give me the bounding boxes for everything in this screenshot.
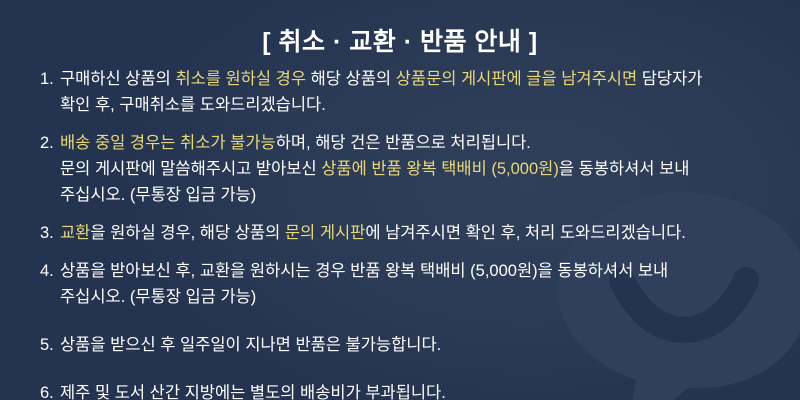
notice-item-3: 3.교환을 원하실 경우, 해당 상품의 문의 게시판에 남겨주시면 확인 후,…	[40, 220, 782, 246]
highlighted-text: 교환	[60, 224, 90, 242]
highlighted-text: 문의 게시판	[285, 224, 365, 242]
notice-item-body: 교환을 원하실 경우, 해당 상품의 문의 게시판에 남겨주시면 확인 후, 처…	[60, 220, 782, 246]
notice-item-body: 구매하신 상품의 취소를 원하실 경우 해당 상품의 상품문의 게시판에 글을 …	[60, 66, 782, 118]
plain-text: 해당 상품의	[306, 70, 396, 88]
notice-item-marker: 1.	[40, 66, 60, 92]
highlighted-text: 취소를 원하실 경우	[175, 70, 306, 88]
notice-item-line: 문의 게시판에 말씀해주시고 받아보신 상품에 반품 왕복 택배비 (5,000…	[60, 156, 782, 182]
notice-item-1: 1.구매하신 상품의 취소를 원하실 경우 해당 상품의 상품문의 게시판에 글…	[40, 66, 782, 118]
highlighted-text: 상품에 반품 왕복 택배비 (5,000원)	[321, 160, 559, 178]
notice-item-6: 6.제주 및 도서 산간 지방에는 별도의 배송비가 부과됩니다.	[40, 380, 782, 400]
plain-text: 담당자가	[637, 70, 702, 88]
notice-item-marker: 3.	[40, 220, 60, 246]
highlighted-text: 상품문의 게시판에 글을 남겨주시면	[396, 70, 637, 88]
plain-text: 확인 후, 구매취소를 도와드리겠습니다.	[60, 96, 326, 114]
notice-item-4: 4.상품을 받아보신 후, 교환을 원하시는 경우 반품 왕복 택배비 (5,0…	[40, 258, 782, 310]
plain-text: 상품을 받으신 후 일주일이 지나면 반품은 불가능합니다.	[60, 336, 441, 354]
notice-item-line: 구매하신 상품의 취소를 원하실 경우 해당 상품의 상품문의 게시판에 글을 …	[60, 66, 782, 92]
plain-text: 주십시오. (무통장 입금 가능)	[60, 186, 256, 204]
page-title: [ 취소 · 교환 · 반품 안내 ]	[0, 22, 800, 58]
plain-text: 을 원하실 경우, 해당 상품의	[90, 224, 285, 242]
notice-item-line: 주십시오. (무통장 입금 가능)	[60, 182, 782, 208]
notice-item-marker: 4.	[40, 258, 60, 284]
notice-item-body: 제주 및 도서 산간 지방에는 별도의 배송비가 부과됩니다.	[60, 380, 782, 400]
plain-text: 을 동봉하셔서 보내	[559, 160, 690, 178]
notice-item-marker: 6.	[40, 380, 60, 400]
notice-item-body: 상품을 받으신 후 일주일이 지나면 반품은 불가능합니다.	[60, 332, 782, 358]
plain-text: 주십시오. (무통장 입금 가능)	[60, 288, 256, 306]
notice-item-2: 2.배송 중일 경우는 취소가 불가능하며, 해당 건은 반품으로 처리됩니다.…	[40, 130, 782, 208]
plain-text: 상품을 받아보신 후, 교환을 원하시는 경우 반품 왕복 택배비 (5,000…	[60, 262, 668, 280]
notice-item-body: 배송 중일 경우는 취소가 불가능하며, 해당 건은 반품으로 처리됩니다.문의…	[60, 130, 782, 208]
notice-list: 1.구매하신 상품의 취소를 원하실 경우 해당 상품의 상품문의 게시판에 글…	[40, 66, 782, 400]
notice-item-marker: 2.	[40, 130, 60, 156]
notice-item-line: 배송 중일 경우는 취소가 불가능하며, 해당 건은 반품으로 처리됩니다.	[60, 130, 782, 156]
notice-item-marker: 5.	[40, 332, 60, 358]
plain-text: 하며, 해당 건은 반품으로 처리됩니다.	[276, 134, 531, 152]
notice-item-body: 상품을 받아보신 후, 교환을 원하시는 경우 반품 왕복 택배비 (5,000…	[60, 258, 782, 310]
plain-text: 구매하신 상품의	[60, 70, 175, 88]
notice-item-line: 제주 및 도서 산간 지방에는 별도의 배송비가 부과됩니다.	[60, 380, 782, 400]
highlighted-text: 배송 중일 경우는 취소가 불가능	[60, 134, 276, 152]
cancel-exchange-return-notice-panel: [ 취소 · 교환 · 반품 안내 ] 1.구매하신 상품의 취소를 원하실 경…	[0, 0, 800, 400]
notice-item-line: 상품을 받아보신 후, 교환을 원하시는 경우 반품 왕복 택배비 (5,000…	[60, 258, 782, 284]
plain-text: 문의 게시판에 말씀해주시고 받아보신	[60, 160, 321, 178]
plain-text: 에 남겨주시면 확인 후, 처리 도와드리겠습니다.	[365, 224, 686, 242]
plain-text: 제주 및 도서 산간 지방에는 별도의 배송비가 부과됩니다.	[60, 384, 446, 400]
notice-item-line: 주십시오. (무통장 입금 가능)	[60, 284, 782, 310]
notice-item-line: 교환을 원하실 경우, 해당 상품의 문의 게시판에 남겨주시면 확인 후, 처…	[60, 220, 782, 246]
notice-item-line: 상품을 받으신 후 일주일이 지나면 반품은 불가능합니다.	[60, 332, 782, 358]
notice-item-5: 5.상품을 받으신 후 일주일이 지나면 반품은 불가능합니다.	[40, 332, 782, 358]
notice-item-line: 확인 후, 구매취소를 도와드리겠습니다.	[60, 92, 782, 118]
